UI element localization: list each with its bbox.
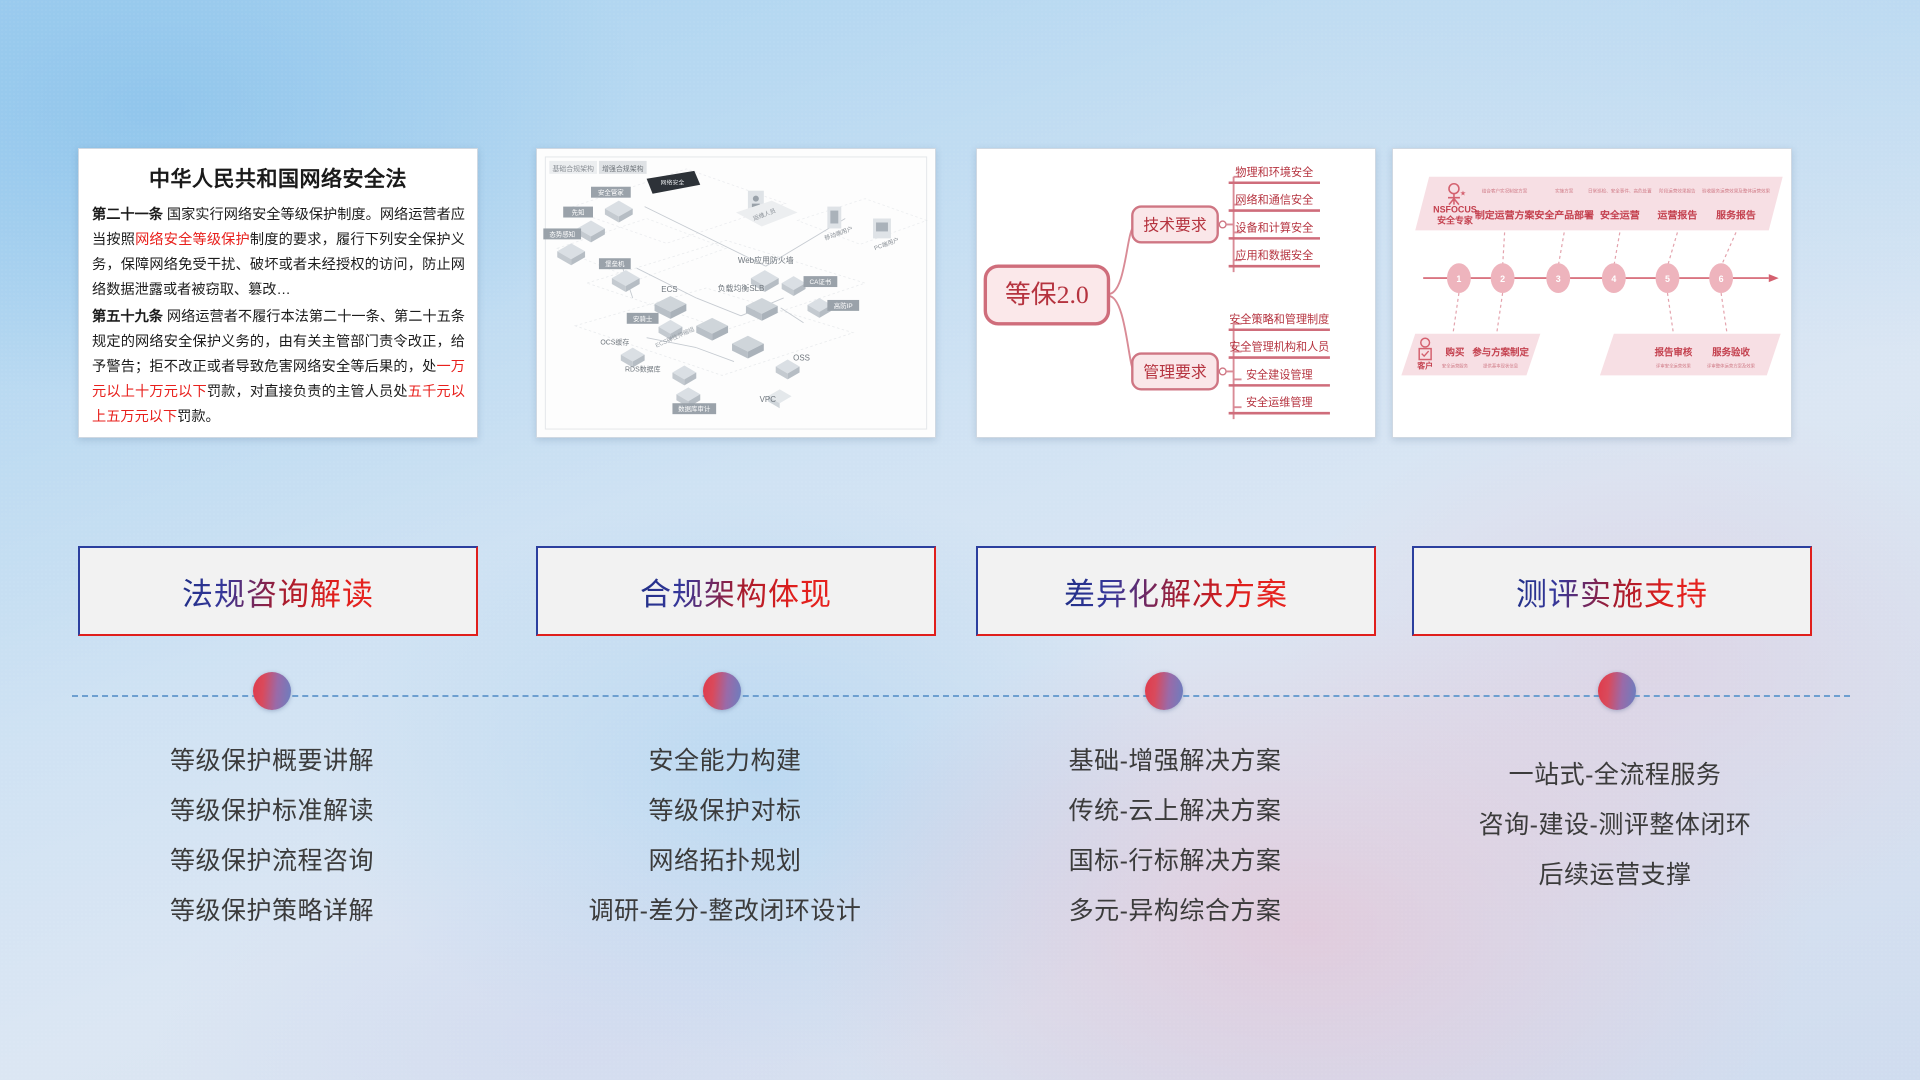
label-regulation-consulting-text: 法规咨询解读 (182, 569, 374, 614)
law-article-label-2: 第五十九条 (92, 309, 163, 325)
law-card-body: 第二十一条 国家实行网络安全等级保护制度。网络运营者应当按照网络安全等级保护制度… (79, 203, 477, 430)
nsfocus-bottom-title-0: 购买 (1446, 347, 1465, 358)
nsfocus-top-title-0: 制定运营方案 (1475, 209, 1536, 222)
arch-node-waf: Web应用防火墙 (738, 255, 794, 265)
nsfocus-top-title-2: 安全运营 (1600, 209, 1640, 222)
nsfocus-bottom-sub-1: 提供基本现状信息 (1483, 362, 1519, 369)
law-run-2-4: 罚款。 (177, 409, 220, 425)
label-regulation-consulting[interactable]: 法规咨询解读 (78, 546, 478, 636)
arch-node-ocs: OCS缓存 (600, 338, 629, 347)
nsfocus-step-number-2: 3 (1556, 274, 1561, 284)
label-compliance-architecture-text: 合规架构体现 (640, 569, 832, 614)
mindmap-leaf-1-3: 安全运维管理 (1246, 395, 1313, 409)
timeline-dot-1[interactable] (253, 672, 291, 710)
list-assessment-support: 一站式-全流程服务 咨询-建设-测评整体闭环 后续运营支撑 (1400, 736, 1830, 900)
nsfocus-role-line2: 安全专家 (1437, 214, 1473, 225)
svg-text:★: ★ (1460, 190, 1466, 198)
label-boxes-row: 法规咨询解读 合规架构体现 差异化解决方案 测评实施支持 (0, 546, 1920, 638)
list-differentiated-solution: 基础-增强解决方案 传统-云上解决方案 国标-行标解决方案 多元-异构综合方案 (960, 736, 1390, 936)
nsfocus-top-sub-4: 验收服务运营效果及整体运营效果 (1702, 188, 1771, 195)
list-item: 等级保护对标 (510, 786, 940, 836)
list-item: 等级保护标准解读 (57, 786, 487, 836)
law-run-2-2: 罚款，对直接负责的主管人员处 (207, 384, 408, 400)
law-paragraph-1: 第二十一条 国家实行网络安全等级保护制度。网络运营者应当按照网络安全等级保护制度… (92, 203, 465, 303)
timeline-dot-4[interactable] (1598, 672, 1636, 710)
mindmap-leaf-1-1: 安全管理机构和人员 (1229, 340, 1329, 354)
nsfocus-bottom-sub-3: 评审整体运营方案及效果 (1707, 362, 1756, 369)
timeline-dot-2[interactable] (703, 672, 741, 710)
arch-node-vpc: VPC (760, 395, 777, 404)
list-item: 多元-异构综合方案 (960, 886, 1390, 936)
arch-node-ecs: ECS (661, 285, 677, 294)
cybersecurity-law-card[interactable]: 中华人民共和国网络安全法 第二十一条 国家实行网络安全等级保护制度。网络运营者应… (78, 148, 478, 438)
mbps-mindmap: 等保2.0 技术要求 物理和环境安全 网络和通信安全 设备和计算安全 应用和数据… (977, 149, 1375, 437)
list-item: 传统-云上解决方案 (960, 786, 1390, 836)
list-item: 咨询-建设-测评整体闭环 (1400, 800, 1830, 850)
list-regulation-consulting: 等级保护概要讲解 等级保护标准解读 等级保护流程咨询 等级保护策略详解 (57, 736, 487, 936)
nsfocus-top-title-1: 安全产品部署 (1534, 209, 1594, 222)
list-compliance-architecture: 安全能力构建 等级保护对标 网络拓扑规划 调研-差分-整改闭环设计 (510, 736, 940, 936)
list-item: 安全能力构建 (510, 736, 940, 786)
mindmap-leaf-0-2: 设备和计算安全 (1235, 220, 1313, 234)
timeline-dot-3[interactable] (1145, 672, 1183, 710)
nsfocus-step-number-0: 1 (1456, 274, 1461, 284)
arch-tab-1: 增强合规架构 (602, 164, 644, 173)
nsfocus-step-number-3: 4 (1611, 274, 1616, 284)
nsfocus-top-sub-2: 日常巡检、安全事件、高危处置 (1588, 188, 1652, 195)
nsfocus-top-sub-3: 阶段运营效果报告 (1659, 188, 1696, 195)
label-compliance-architecture[interactable]: 合规架构体现 (536, 546, 936, 636)
law-run-1-1: 网络安全等级保护 (135, 232, 250, 248)
mindmap-leaf-0-3: 应用和数据安全 (1235, 248, 1313, 262)
arch-tab-0: 基础合规架构 (552, 164, 594, 173)
list-item: 后续运营支撑 (1400, 850, 1830, 900)
nsfocus-bottom-sub-2: 评审安全运营效果 (1656, 362, 1692, 369)
list-item: 等级保护策略详解 (57, 886, 487, 936)
list-item: 国标-行标解决方案 (960, 836, 1390, 886)
nsfocus-top-title-3: 运营报告 (1658, 209, 1698, 222)
mindmap-leaf-0-1: 网络和通信安全 (1235, 193, 1313, 207)
law-paragraph-2: 第五十九条 网络运营者不履行本法第二十一条、第二十五条规定的网络安全保护义务的，… (92, 305, 465, 430)
arch-node-anquanguanjia: 安全管家 (598, 188, 624, 197)
law-card-title: 中华人民共和国网络安全法 (79, 163, 477, 193)
arch-node-anqishi: 安骑士 (633, 314, 653, 323)
nsfocus-top-title-4: 服务报告 (1716, 209, 1756, 222)
mindmap-leaf-0-0: 物理和环境安全 (1235, 165, 1313, 179)
timeline-row (0, 672, 1920, 720)
arch-dark-tag: 网络安全 (661, 179, 685, 187)
arch-node-slb: 负载均衡SLB (718, 283, 765, 293)
nsfocus-top-sub-0: 结合客户实况制定方案 (1482, 188, 1528, 195)
arch-node-baoleiji: 堡垒机 (605, 259, 625, 268)
nsfocus-bottom-title-3: 服务验收 (1712, 347, 1750, 358)
list-item: 网络拓扑规划 (510, 836, 940, 886)
nsfocus-bottom-sub-0: 安全运营服务 (1442, 362, 1469, 369)
mindmap-leaf-1-2: 安全建设管理 (1246, 367, 1313, 381)
nsfocus-role-line1: NSFOCUS (1433, 205, 1477, 215)
label-differentiated-solution-text: 差异化解决方案 (1064, 569, 1288, 614)
law-article-label-1: 第二十一条 (92, 207, 163, 223)
nsfocus-timeline-diagram: ★ NSFOCUS 安全专家 结合客户实况制定方案 制定运营方案 实施方案 安全… (1393, 149, 1791, 437)
list-item: 等级保护流程咨询 (57, 836, 487, 886)
nsfocus-customer-label: 客户 (1416, 360, 1433, 370)
nsfocus-step-number-4: 5 (1665, 274, 1670, 284)
nsfocus-step-number-1: 2 (1500, 274, 1505, 284)
bottom-lists-row: 等级保护概要讲解 等级保护标准解读 等级保护流程咨询 等级保护策略详解 安全能力… (0, 736, 1920, 946)
arch-node-db-audit: 数据库审计 (678, 404, 711, 413)
cards-row: 中华人民共和国网络安全法 第二十一条 国家实行网络安全等级保护制度。网络运营者应… (0, 148, 1920, 448)
arch-node-oss: OSS (793, 354, 810, 363)
nsfocus-bottom-title-1: 参与方案制定 (1472, 347, 1529, 358)
nsfocus-step-number-5: 6 (1719, 274, 1724, 284)
arch-node-rds: RDS数据库 (625, 364, 661, 373)
nsfocus-top-sub-1: 实施方案 (1555, 188, 1574, 195)
mindmap-branch-1-label: 管理要求 (1143, 363, 1207, 381)
list-item: 一站式-全流程服务 (1400, 750, 1830, 800)
arch-node-taishiganzhi: 态势感知 (549, 229, 575, 238)
list-item: 等级保护概要讲解 (57, 736, 487, 786)
list-item: 调研-差分-整改闭环设计 (510, 886, 940, 936)
mindmap-branch-0-label: 技术要求 (1143, 216, 1207, 234)
label-assessment-support[interactable]: 测评实施支持 (1412, 546, 1812, 636)
mindmap-leaf-1-0: 安全策略和管理制度 (1229, 312, 1329, 326)
cloud-architecture-card[interactable]: 基础合规架构 增强合规架构 (536, 148, 936, 438)
timeline-dashed-line (72, 695, 1850, 697)
label-differentiated-solution[interactable]: 差异化解决方案 (976, 546, 1376, 636)
arch-node-xianzhi: 先知 (572, 208, 585, 217)
list-item: 基础-增强解决方案 (960, 736, 1390, 786)
nsfocus-service-timeline-card[interactable]: ★ NSFOCUS 安全专家 结合客户实况制定方案 制定运营方案 实施方案 安全… (1392, 148, 1792, 438)
arch-node-ca: CA证书 (809, 277, 831, 286)
mbps-mindmap-card[interactable]: 等保2.0 技术要求 物理和环境安全 网络和通信安全 设备和计算安全 应用和数据… (976, 148, 1376, 438)
cloud-architecture-diagram: 基础合规架构 增强合规架构 (537, 149, 935, 437)
arch-node-gaofangip: 高防IP (834, 301, 853, 310)
label-assessment-support-text: 测评实施支持 (1516, 569, 1708, 614)
nsfocus-bottom-title-2: 报告审核 (1655, 347, 1693, 358)
mindmap-root-label: 等保2.0 (1005, 280, 1089, 309)
